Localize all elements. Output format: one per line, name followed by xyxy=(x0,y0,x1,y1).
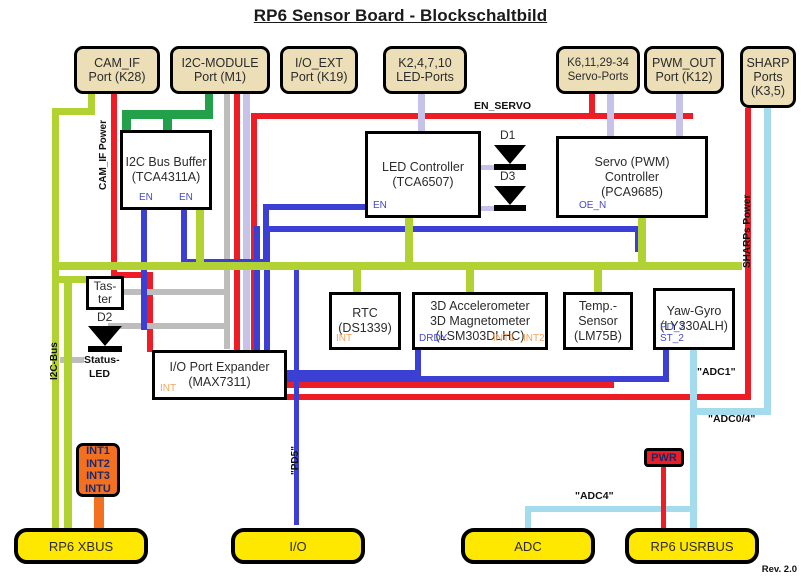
wire-lime-ledctrl-drop xyxy=(405,218,413,270)
wire-lav-k19 xyxy=(243,94,250,350)
chip-ioexp-line1: I/O Port Expander xyxy=(169,360,269,375)
connector-led-ports-line2: LED-Ports xyxy=(396,70,454,84)
connector-cam-if-line1: CAM_IF xyxy=(94,56,140,70)
connector-servo-ports-line1: K6,11,29-34 xyxy=(567,56,629,70)
status-led-label-line2: LED xyxy=(89,368,110,380)
wire-red-m1 xyxy=(234,94,240,350)
chip-gyro-line1: Yaw-Gyro xyxy=(667,304,722,319)
bus-io-label: I/O xyxy=(289,539,306,554)
wire-lime-xbus-drop xyxy=(64,276,72,528)
int-line-1: INT1 xyxy=(86,445,110,458)
pin-accel-int1: INT1 xyxy=(493,331,515,346)
connector-servo-ports[interactable]: K6,11,29-34 Servo-Ports xyxy=(556,46,640,94)
wire-i2c-green-left-vert xyxy=(122,110,131,130)
wire-gray-m1-h xyxy=(160,323,230,329)
wire-cyan-gyro-v xyxy=(690,350,697,415)
pin-led-en: EN xyxy=(373,198,387,213)
connector-io-ext[interactable]: I/O_EXT Port (K19) xyxy=(280,46,358,94)
chip-servo-line2: Controller xyxy=(605,170,659,185)
chip-temp-line3: (LM75B) xyxy=(574,329,622,344)
wire-i2c-bus-vert xyxy=(52,108,59,528)
wire-lime-servo-drop xyxy=(638,218,646,262)
pin-gyro-st2: ST_2 xyxy=(660,331,684,346)
wire-gray-taster-h xyxy=(108,289,230,295)
diagram-canvas: RP6 Sensor Board - Blockschaltbild xyxy=(0,0,801,577)
connector-io-ext-line1: I/O_EXT xyxy=(295,56,343,70)
wire-lime-rtc-drop xyxy=(353,262,361,292)
connector-servo-ports-line2: Servo-Ports xyxy=(568,70,629,84)
bus-adc-label: ADC xyxy=(514,539,541,554)
connector-pwm-out-line2: Port (K12) xyxy=(656,70,713,84)
led-d3-triangle xyxy=(494,186,526,205)
connector-sharp-line1: SHARP xyxy=(746,56,789,70)
led-d3-symbol xyxy=(494,186,526,211)
connector-led-ports[interactable]: K2,4,7,10 LED-Ports xyxy=(383,46,467,94)
connector-i2c-module-line2: Port (M1) xyxy=(194,70,246,84)
wire-cyan-adc4-v xyxy=(525,506,531,530)
connector-io-ext-line2: Port (K19) xyxy=(291,70,348,84)
wire-red-k28 xyxy=(111,94,117,276)
chip-temp-line1: Temp.- xyxy=(579,299,617,314)
chip-rtc-line1: RTC xyxy=(352,306,377,321)
wire-cam-power-seg1 xyxy=(88,94,95,108)
wire-red-k28-down xyxy=(147,272,153,352)
wire-lime-accel-drop xyxy=(466,262,474,292)
label-cam-if-power: CAM_IF Power xyxy=(98,120,109,190)
connector-sharp-line3: (K3,5) xyxy=(751,84,785,98)
pin-rtc-int: INT xyxy=(336,331,352,346)
wire-red-ioexp-out xyxy=(284,382,614,388)
wire-red-bottom-rail xyxy=(251,394,751,400)
chip-temp-line2: Sensor xyxy=(578,314,618,329)
wire-blue-vert-bundle-1 xyxy=(254,226,260,350)
taster-line2: ter xyxy=(98,293,112,306)
status-led-symbol xyxy=(88,326,122,352)
led-d3-label: D3 xyxy=(500,169,515,183)
wire-i2c-green-vert-m1 xyxy=(205,94,213,110)
status-led-triangle xyxy=(88,326,122,346)
pin-servo-oen: OE_N xyxy=(579,198,606,213)
wire-lav-servoports xyxy=(607,94,614,136)
wire-cyan-adc4-h xyxy=(525,506,697,512)
led-d3-bar xyxy=(494,205,526,211)
bus-rp6-usrbus[interactable]: RP6 USRBUS xyxy=(625,528,759,564)
chip-led-ctrl-line2: (TCA6507) xyxy=(392,175,453,190)
pin-en-1: EN xyxy=(139,190,153,205)
chip-led-controller[interactable]: LED Controller (TCA6507) EN xyxy=(365,131,481,218)
chip-led-ctrl-line1: LED Controller xyxy=(382,160,464,175)
connector-sharp-line2: Ports xyxy=(753,70,782,84)
connector-pwm-out[interactable]: PWM_OUT Port (K12) xyxy=(644,46,724,94)
label-en-servo: EN_SERVO xyxy=(474,100,531,112)
chip-ioexp-line2: (MAX7311) xyxy=(188,375,250,390)
wire-lime-temp-drop xyxy=(594,262,602,292)
wire-gray-vert-mid xyxy=(224,289,230,349)
bus-adc[interactable]: ADC xyxy=(461,528,595,564)
chip-rtc[interactable]: RTC (DS1339) INT xyxy=(329,292,401,350)
label-adc1: "ADC1" xyxy=(697,366,736,378)
wire-blue-gyro-h xyxy=(284,376,669,382)
wire-blue-en-buffer-a xyxy=(141,210,147,330)
status-led-bar xyxy=(88,346,122,352)
chip-yaw-gyro[interactable]: Yaw-Gyro (LY330ALH) PD_2 ST_2 xyxy=(653,288,735,350)
chip-servo-line1: Servo (PWM) xyxy=(595,155,670,170)
label-sharps-power: SHARPs Power xyxy=(742,195,753,268)
led-d1-triangle xyxy=(494,145,526,164)
wire-red-servoports xyxy=(589,94,595,119)
connector-pwm-out-line1: PWM_OUT xyxy=(652,56,716,70)
pwr-block[interactable]: PWR xyxy=(644,448,684,467)
int-line-2: INT2 xyxy=(86,458,110,471)
pin-accel-drdy: DRDY xyxy=(419,331,447,346)
taster-button[interactable]: Tas- ter xyxy=(86,276,124,310)
connector-sharp-ports[interactable]: SHARP Ports (K3,5) xyxy=(740,46,796,108)
wire-red-rail-main xyxy=(251,113,693,119)
chip-i2c-buffer-line1: I2C Bus Buffer xyxy=(125,155,206,170)
connector-led-ports-line1: K2,4,7,10 xyxy=(398,56,452,70)
label-i2c-bus: I2C-Bus xyxy=(49,342,60,380)
chip-io-port-expander[interactable]: I/O Port Expander (MAX7311) INT xyxy=(152,350,287,400)
int-line-4: INTU xyxy=(85,483,111,496)
page-title: RP6 Sensor Board - Blockschaltbild xyxy=(0,6,801,26)
chip-accel-magnetometer[interactable]: 3D Accelerometer 3D Magnetometer (LSM303… xyxy=(412,292,548,350)
wire-blue-ledctrl-en-h xyxy=(263,204,371,210)
connector-i2c-module[interactable]: I2C-MODULE Port (M1) xyxy=(170,46,270,94)
wire-blue-pd5 xyxy=(294,265,299,525)
wire-i2c-green-buffer-in xyxy=(163,110,172,132)
wire-blue-en-buffer-b xyxy=(181,210,187,265)
chip-i2c-bus-buffer[interactable]: I2C Bus Buffer (TCA4311A) EN EN xyxy=(120,130,212,210)
wire-orange-int xyxy=(94,495,104,530)
connector-i2c-module-line1: I2C-MODULE xyxy=(181,56,258,70)
chip-servo-controller[interactable]: Servo (PWM) Controller (PCA9685) OE_N xyxy=(556,136,708,218)
bus-xbus-label: RP6 XBUS xyxy=(49,539,113,554)
chip-servo-line3: (PCA9685) xyxy=(601,185,663,200)
revision-label: Rev. 2.0 xyxy=(762,564,797,575)
connector-cam-if[interactable]: CAM_IF Port (K28) xyxy=(74,46,160,94)
chip-i2c-buffer-line2: (TCA4311A) xyxy=(132,170,201,185)
pin-accel-int2: INT2 xyxy=(523,331,545,346)
chip-temp-sensor[interactable]: Temp.- Sensor (LM75B) xyxy=(563,292,633,350)
label-adc4: "ADC4" xyxy=(575,490,614,502)
wire-lav-pwmout xyxy=(676,94,683,136)
wire-lav-ledports xyxy=(418,94,425,134)
led-d2-label: D2 xyxy=(97,310,112,324)
bus-io[interactable]: I/O xyxy=(231,528,365,564)
wire-lime-buffer-drop xyxy=(196,210,204,270)
bus-rp6-xbus[interactable]: RP6 XBUS xyxy=(14,528,148,564)
chip-accel-line2: 3D Magnetometer xyxy=(430,314,530,329)
pin-ioexp-int: INT xyxy=(160,381,176,396)
bus-usrbus-label: RP6 USRBUS xyxy=(650,539,733,554)
label-adc0-4: "ADC0/4" xyxy=(708,413,755,425)
chip-accel-line1: 3D Accelerometer xyxy=(430,299,529,314)
label-pd5: "PD5" xyxy=(290,446,301,475)
led-d1-label: D1 xyxy=(500,128,515,142)
pin-en-2: EN xyxy=(179,190,193,205)
pwr-label: PWR xyxy=(651,452,677,464)
int-line-3: INT3 xyxy=(86,470,110,483)
wire-blue-vert-bundle-2 xyxy=(264,232,270,350)
connector-cam-if-line2: Port (K28) xyxy=(89,70,146,84)
wire-red-pwr xyxy=(661,465,666,530)
status-led-label-line1: Status- xyxy=(84,354,120,366)
wire-cyan-sharp xyxy=(764,108,771,415)
led-d1-symbol xyxy=(494,145,526,170)
int-signals-block[interactable]: INT1 INT2 INT3 INTU xyxy=(76,443,120,497)
wire-blue-servo-oen-h xyxy=(263,226,641,232)
